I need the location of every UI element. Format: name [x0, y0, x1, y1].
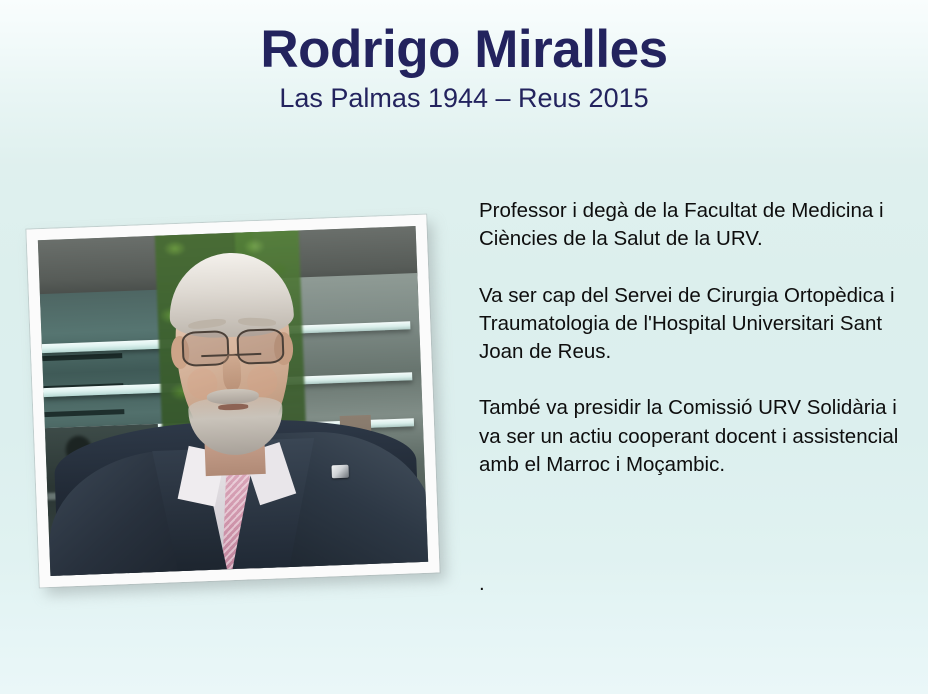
bio-paragraph-2: Va ser cap del Servei de Cirurgia Ortopè…: [479, 282, 907, 367]
nose: [222, 354, 242, 392]
title-block: Rodrigo Miralles Las Palmas 1944 – Reus …: [0, 22, 928, 114]
portrait-photo: [26, 215, 439, 588]
photo-frame: [26, 215, 439, 588]
lens-left: [181, 331, 229, 367]
biography-text: Professor i degà de la Facultat de Medic…: [479, 197, 907, 479]
hair: [167, 251, 295, 340]
page-subtitle: Las Palmas 1944 – Reus 2015: [0, 84, 928, 114]
lapel-pin-icon: [332, 464, 349, 478]
bio-paragraph-3: També va presidir la Comissió URV Solidà…: [479, 394, 907, 479]
slide-canvas: Rodrigo Miralles Las Palmas 1944 – Reus …: [0, 0, 928, 694]
bio-paragraph-1: Professor i degà de la Facultat de Medic…: [479, 197, 907, 253]
lens-right: [236, 329, 284, 365]
photo-image: [38, 226, 428, 576]
portrait-subject: [38, 226, 428, 576]
page-title: Rodrigo Miralles: [0, 22, 928, 78]
trailing-period: .: [479, 570, 485, 598]
